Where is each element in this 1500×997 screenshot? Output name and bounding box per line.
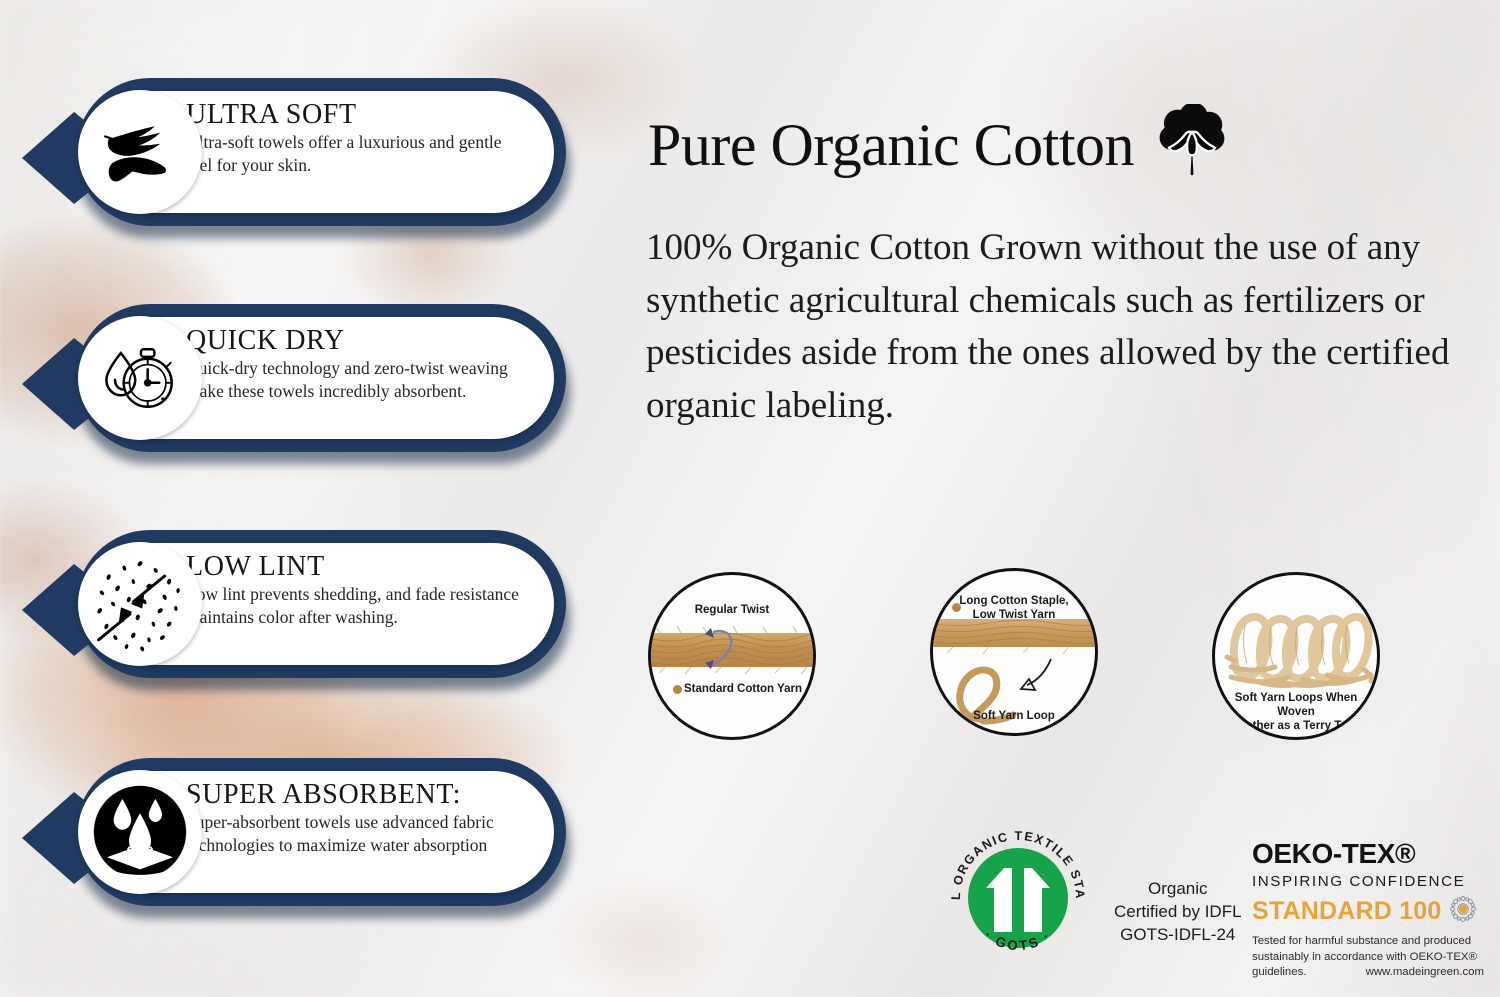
yarn-diagram-low-twist: Long Cotton Staple, Low Twist Yarn Soft … [930, 568, 1098, 736]
headline-text: Pure Organic Cotton [648, 115, 1134, 175]
cotton-boll-icon [1156, 104, 1228, 185]
card-text-panel: ULTRA SOFT Ultra-soft towels offer a lux… [142, 91, 554, 213]
droplets-on-fabric-icon [78, 770, 202, 894]
page-title: Pure Organic Cotton [648, 104, 1228, 185]
oeko-sun-burst-icon [1449, 895, 1477, 928]
oeko-fine-line-3: guidelines. [1252, 965, 1306, 981]
oeko-standard: STANDARD 100 [1252, 899, 1441, 924]
yarn-top-label: Regular Twist [651, 603, 813, 617]
feature-title: ULTRA SOFT [186, 100, 528, 129]
feature-card-quick-dry: QUICK DRY Quick-dry technology and zero-… [14, 304, 570, 464]
feature-card-super-absorbent: SUPER ABSORBENT: Super-absorbent towels … [14, 758, 570, 918]
feature-card-ultra-soft: ULTRA SOFT Ultra-soft towels offer a lux… [14, 78, 570, 238]
yarn-bullet [952, 603, 961, 612]
feature-description: Ultra-soft towels offer a luxurious and … [186, 131, 528, 176]
yarn-diagram-regular-twist: Regular Twist Standard Cotton Yarn [648, 572, 816, 740]
yarn-bottom-label: Standard Cotton Yarn [651, 682, 813, 696]
oeko-title: OEKO-TEX® [1252, 840, 1484, 868]
gots-caption: Organic Certified by IDFL GOTS-IDFL-24 [1114, 878, 1242, 946]
gots-certification-logo: GLOBAL ORGANIC TEXTILE STANDARD · GOTS · [942, 822, 1094, 974]
card-text-panel: LOW LINT Low lint prevents shedding, and… [142, 543, 554, 665]
card-text-panel: SUPER ABSORBENT: Super-absorbent towels … [142, 771, 554, 893]
oeko-website: www.madeingreen.com [1366, 965, 1484, 981]
feature-description: Quick-dry technology and zero-twist weav… [186, 357, 528, 402]
yarn-diagram-terry-loops: Soft Yarn Loops When Woven Together as a… [1212, 572, 1380, 740]
oeko-fine-line-2: sustainably in accordance with OEKO-TEX® [1252, 950, 1484, 966]
body-paragraph: 100% Organic Cotton Grown without the us… [646, 222, 1474, 432]
card-text-panel: QUICK DRY Quick-dry technology and zero-… [142, 317, 554, 439]
lint-particles-arrows-icon [78, 542, 202, 666]
oeko-tex-badge: OEKO-TEX® INSPIRING CONFIDENCE STANDARD … [1252, 840, 1484, 981]
feature-title: LOW LINT [186, 552, 528, 581]
feature-title: QUICK DRY [186, 326, 528, 355]
yarn-bottom-label: Soft Yarn Loop [933, 709, 1095, 723]
yarn-bottom-label: Soft Yarn Loops When Woven Together as a… [1215, 691, 1377, 733]
feature-card-low-lint: LOW LINT Low lint prevents shedding, and… [14, 530, 570, 690]
feature-title: SUPER ABSORBENT: [186, 780, 528, 809]
feather-in-hand-icon [78, 90, 202, 214]
waterdrop-stopwatch-icon [78, 316, 202, 440]
feature-description: Super-absorbent towels use advanced fabr… [186, 811, 528, 856]
oeko-subtitle: INSPIRING CONFIDENCE [1252, 873, 1484, 890]
oeko-fine-print: Tested for harmful substance and produce… [1252, 934, 1484, 981]
feature-description: Low lint prevents shedding, and fade res… [186, 583, 528, 628]
oeko-fine-line-1: Tested for harmful substance and produce… [1252, 934, 1484, 950]
